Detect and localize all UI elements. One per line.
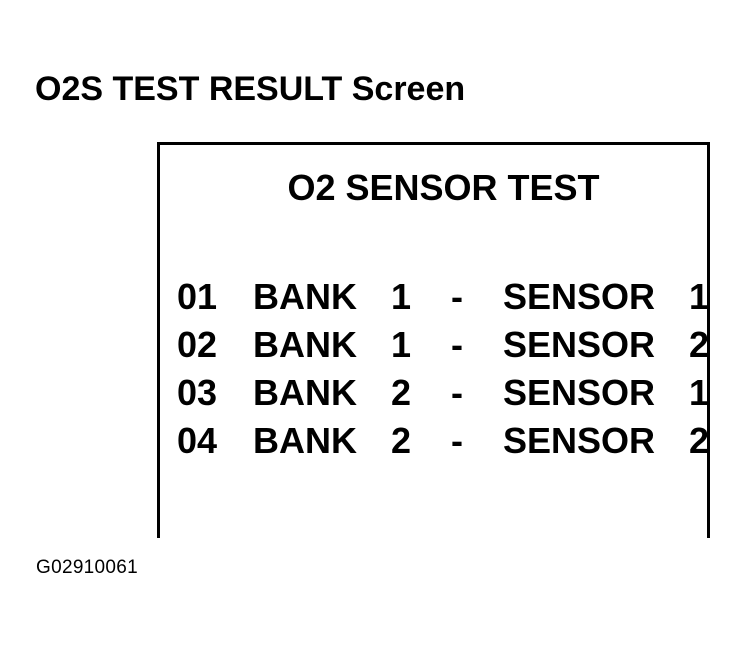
sensor-item-bank-number: 1 (391, 321, 451, 369)
sensor-test-list: 01 BANK 1 - SENSOR 1 02 BANK 1 - SENSOR … (160, 273, 707, 465)
sensor-item-separator: - (451, 369, 503, 417)
figure-title: O2S TEST RESULT Screen (35, 68, 465, 110)
sensor-item-sensor-label: SENSOR (503, 369, 689, 417)
sensor-item-index: 01 (177, 273, 253, 321)
sensor-item-bank-label: BANK (253, 369, 391, 417)
sensor-item-index: 02 (177, 321, 253, 369)
sensor-list-item[interactable]: 02 BANK 1 - SENSOR 2 (160, 321, 707, 369)
sensor-item-bank-label: BANK (253, 273, 391, 321)
sensor-item-index: 03 (177, 369, 253, 417)
sensor-item-sensor-label: SENSOR (503, 273, 689, 321)
screen-header-title: O2 SENSOR TEST (160, 167, 707, 209)
sensor-item-sensor-number: 2 (689, 321, 709, 369)
device-screen-panel: O2 SENSOR TEST 01 BANK 1 - SENSOR 1 02 B… (157, 142, 710, 538)
sensor-list-item[interactable]: 01 BANK 1 - SENSOR 1 (160, 273, 707, 321)
sensor-item-sensor-number: 1 (689, 273, 709, 321)
sensor-item-sensor-number: 2 (689, 417, 709, 465)
sensor-list-item[interactable]: 04 BANK 2 - SENSOR 2 (160, 417, 707, 465)
sensor-item-sensor-label: SENSOR (503, 417, 689, 465)
figure-caption: G02910061 (36, 556, 138, 580)
sensor-item-bank-number: 2 (391, 417, 451, 465)
sensor-item-separator: - (451, 417, 503, 465)
sensor-item-bank-label: BANK (253, 417, 391, 465)
sensor-item-index: 04 (177, 417, 253, 465)
sensor-list-item[interactable]: 03 BANK 2 - SENSOR 1 (160, 369, 707, 417)
sensor-item-separator: - (451, 273, 503, 321)
sensor-item-bank-number: 2 (391, 369, 451, 417)
sensor-item-sensor-label: SENSOR (503, 321, 689, 369)
sensor-item-bank-number: 1 (391, 273, 451, 321)
sensor-item-sensor-number: 1 (689, 369, 709, 417)
sensor-item-separator: - (451, 321, 503, 369)
sensor-item-bank-label: BANK (253, 321, 391, 369)
